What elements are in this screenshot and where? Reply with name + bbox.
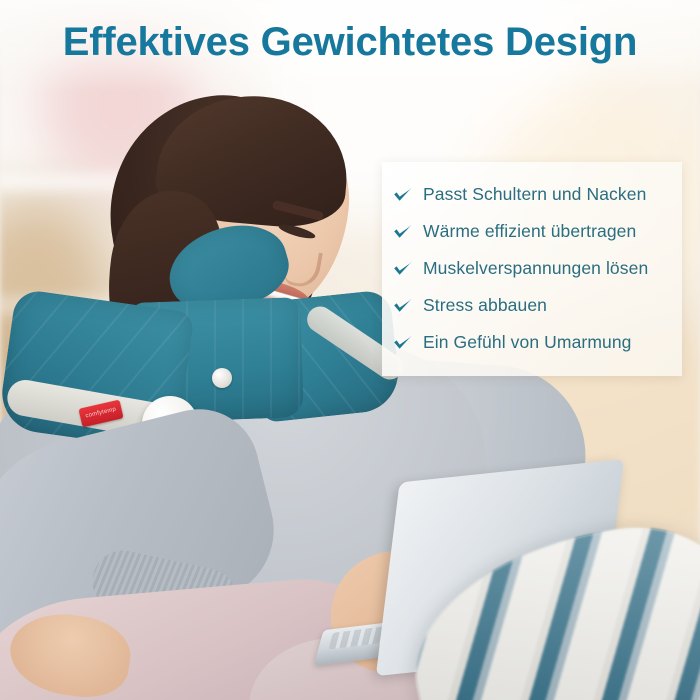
list-item: Stress abbauen bbox=[392, 287, 672, 324]
feature-label: Muskelverspannungen lösen bbox=[423, 258, 648, 279]
product-lifestyle-image: comfytemp C Effektives Gewichtetes Desig… bbox=[0, 0, 700, 700]
list-item: Passt Schultern und Nacken bbox=[392, 176, 672, 213]
list-item: Wärme effizient übertragen bbox=[392, 213, 672, 250]
list-item: Muskelverspannungen lösen bbox=[392, 250, 672, 287]
check-icon bbox=[392, 184, 414, 206]
feature-label: Stress abbauen bbox=[423, 295, 547, 316]
check-icon bbox=[392, 332, 414, 354]
check-icon bbox=[392, 295, 414, 317]
feature-label: Wärme effizient übertragen bbox=[423, 221, 636, 242]
check-icon bbox=[392, 221, 414, 243]
page-title: Effektives Gewichtetes Design bbox=[0, 20, 700, 65]
feature-label: Ein Gefühl von Umarmung bbox=[423, 332, 632, 353]
feature-list: Passt Schultern und Nacken Wärme effizie… bbox=[382, 162, 682, 361]
feature-label: Passt Schultern und Nacken bbox=[423, 184, 646, 205]
list-item: Ein Gefühl von Umarmung bbox=[392, 324, 672, 361]
snap-button bbox=[212, 368, 232, 388]
check-icon bbox=[392, 258, 414, 280]
feature-panel: Passt Schultern und Nacken Wärme effizie… bbox=[382, 162, 682, 376]
